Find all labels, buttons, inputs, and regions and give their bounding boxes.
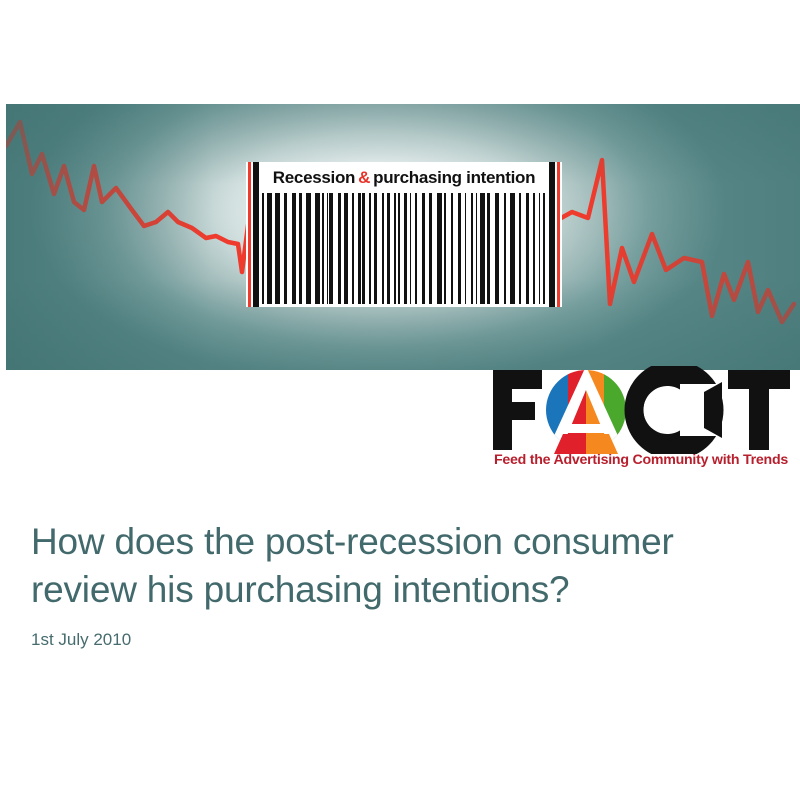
- barcode-guard-right-icon: [549, 162, 555, 307]
- barcode-caption-prefix: Recession: [273, 168, 355, 188]
- barcode-caption-suffix: purchasing intention: [373, 168, 535, 188]
- logo-letter-c-icon: [631, 370, 722, 450]
- barcode-rail-right-icon: [557, 162, 560, 307]
- page-title: How does the post-recession consumer rev…: [31, 518, 761, 614]
- logo-letter-t-icon: [728, 370, 790, 450]
- slide-date: 1st July 2010: [31, 630, 761, 650]
- fact-logo: Feed the Advertising Community with Tren…: [490, 366, 792, 478]
- barcode-caption: Recession & purchasing intention: [264, 163, 544, 193]
- logo-letter-a-mark-icon: [542, 366, 630, 454]
- title-block: How does the post-recession consumer rev…: [31, 518, 761, 650]
- barcode-bars: [262, 193, 546, 304]
- barcode-gap: [545, 193, 546, 304]
- barcode-rail-left-icon: [248, 162, 251, 307]
- fact-tagline: Feed the Advertising Community with Tren…: [490, 452, 792, 468]
- barcode-caption-ampersand: &: [358, 168, 370, 188]
- title-slide: Recession & purchasing intention: [0, 0, 800, 800]
- logo-letter-f-icon: [493, 370, 542, 450]
- fact-wordmark: [490, 366, 792, 454]
- hero-banner-image: Recession & purchasing intention: [6, 104, 800, 370]
- barcode-guard-left-icon: [253, 162, 259, 307]
- barcode-graphic: Recession & purchasing intention: [246, 162, 562, 307]
